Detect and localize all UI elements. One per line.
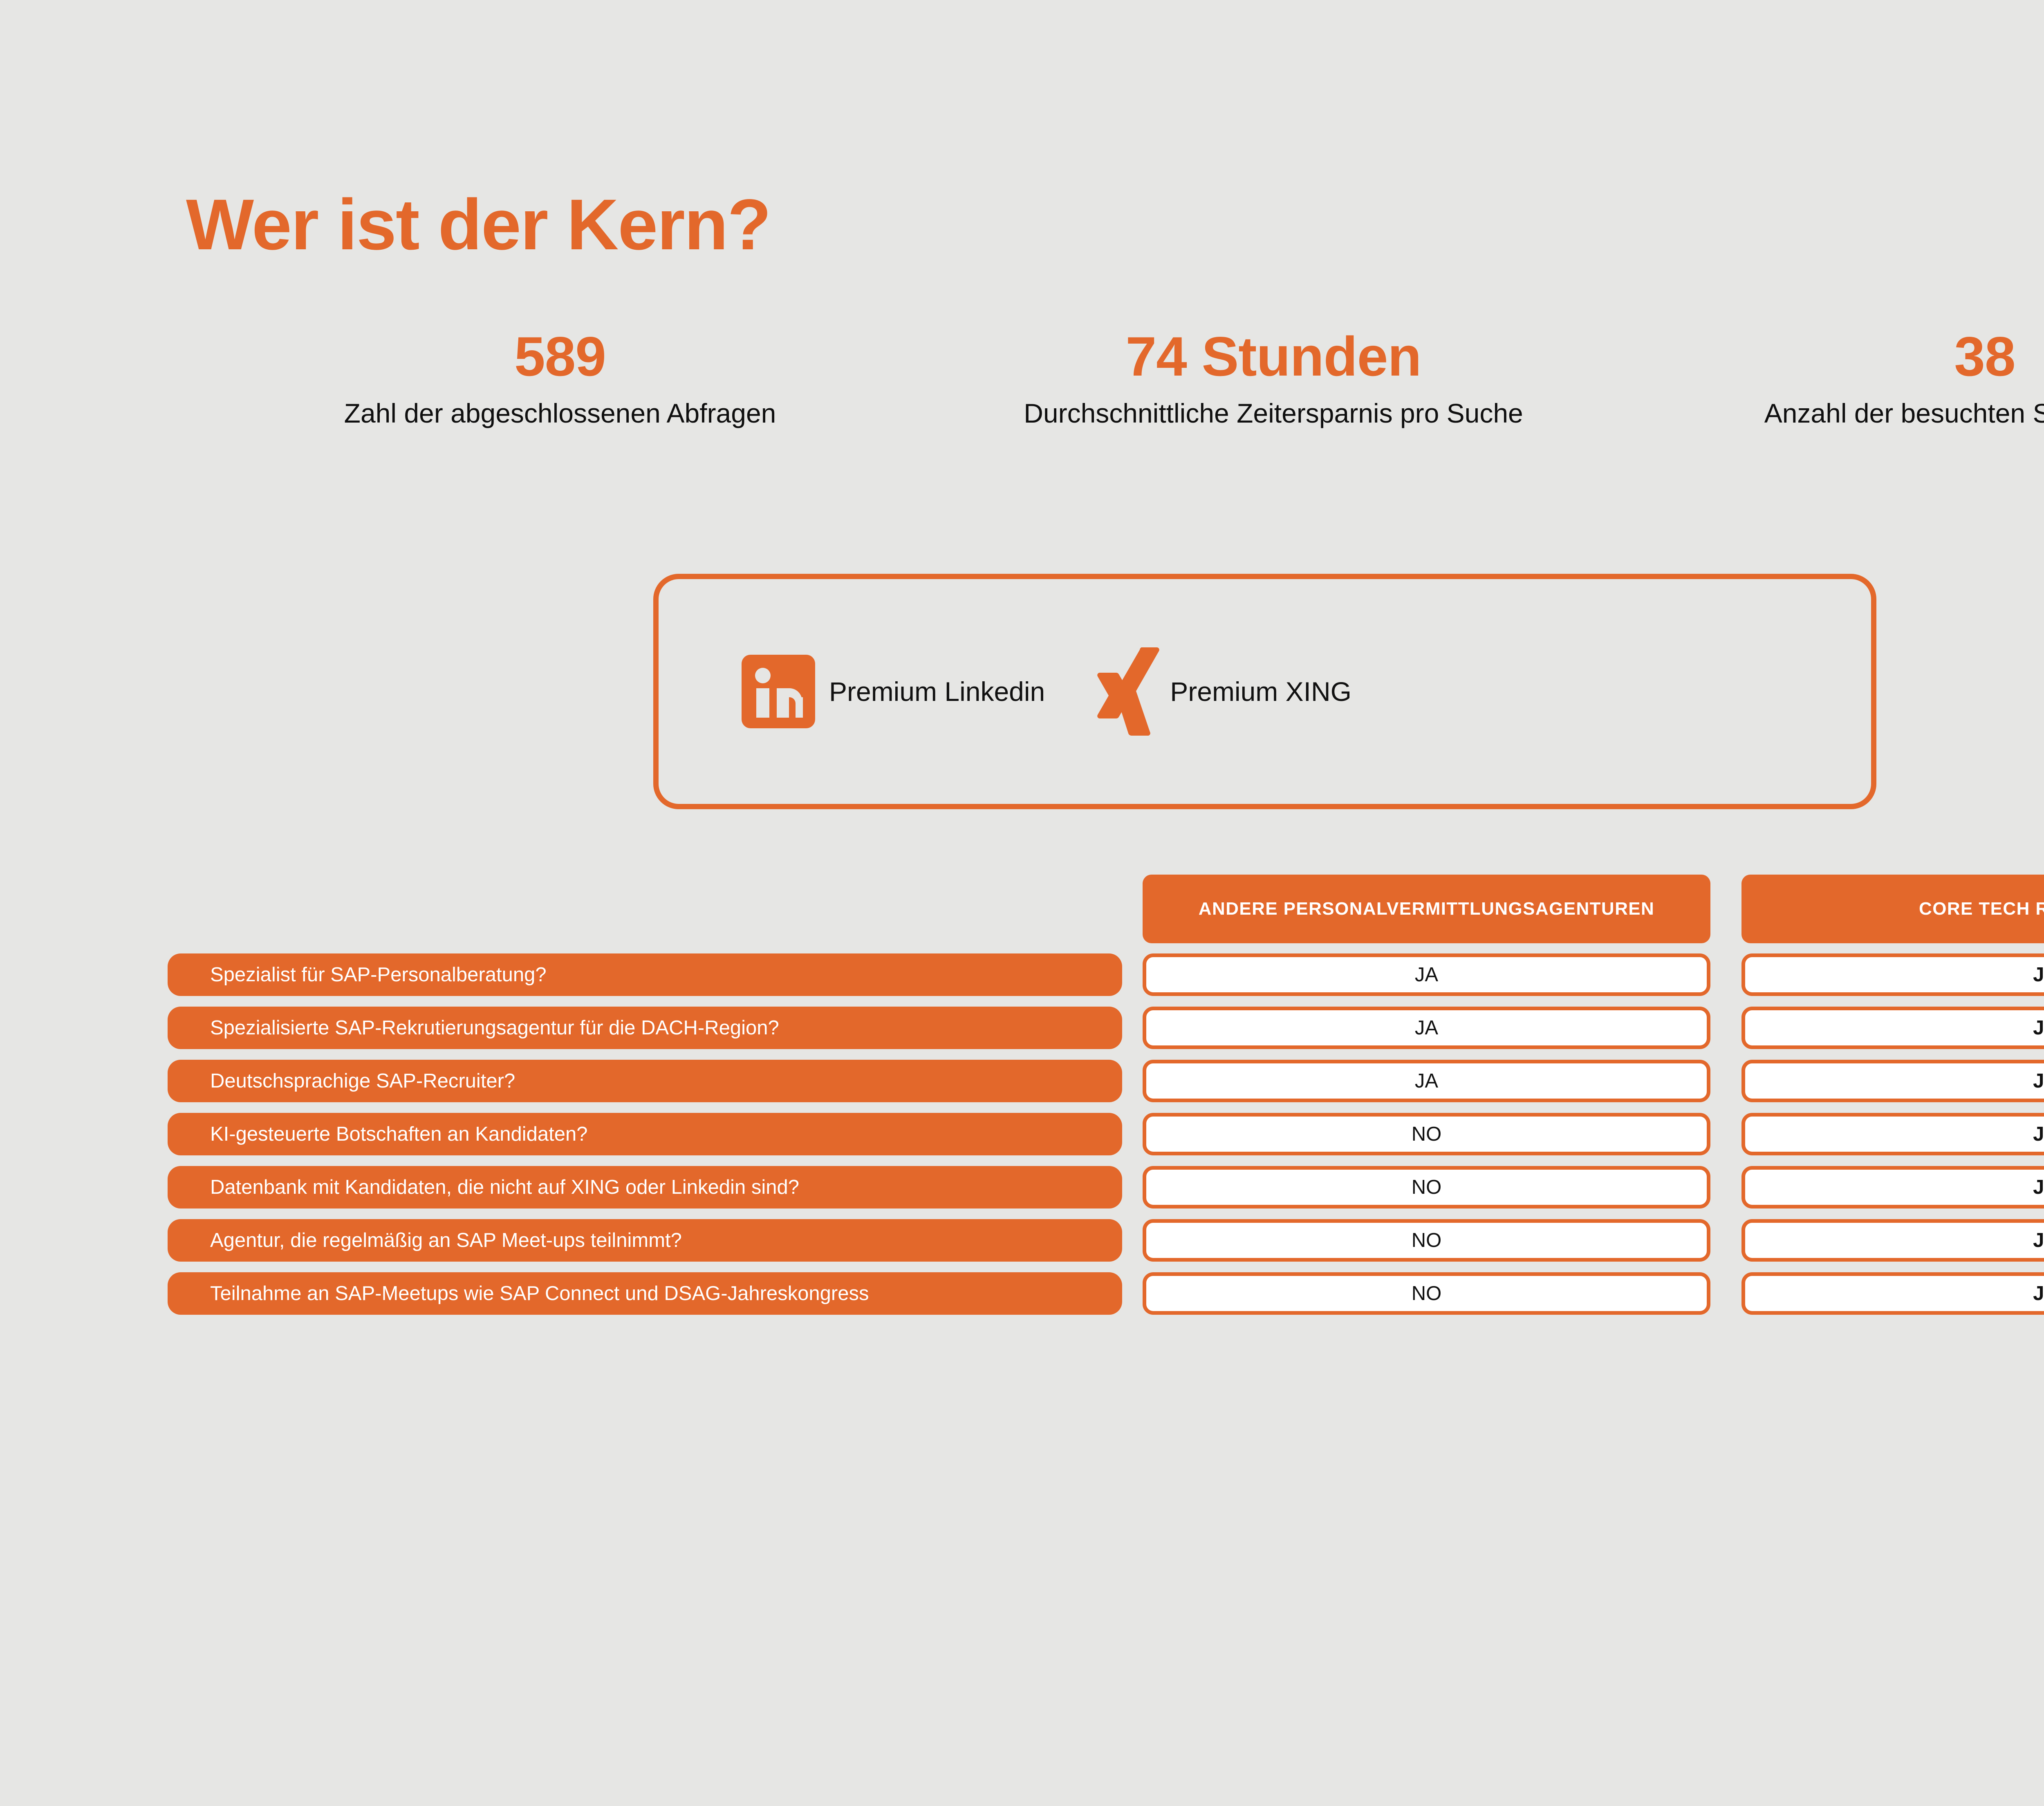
stat-label: Anzahl der besuchten SAP-Meetings — [1764, 396, 2044, 430]
answer-cell-other: JA — [1143, 1060, 1710, 1102]
table-row: Teilnahme an SAP-Meetups wie SAP Connect… — [168, 1272, 2044, 1315]
xing-icon — [1096, 647, 1159, 736]
stat-card-sap-meetings: 38 Anzahl der besuchten SAP-Meetings — [1639, 327, 2044, 430]
table-row: Deutschsprachige SAP-Recruiter? JA JA — [168, 1060, 2044, 1102]
stat-label: Zahl der abgeschlossenen Abfragen — [344, 396, 776, 430]
table-row: Agentur, die regelmäßig an SAP Meet-ups … — [168, 1219, 2044, 1262]
answer-cell-core: JA — [1741, 1166, 2044, 1208]
question-cell: KI-gesteuerte Botschaften an Kandidaten? — [168, 1113, 1122, 1155]
answer-cell-core: JA — [1741, 1007, 2044, 1049]
answer-cell-core: JA — [1741, 1219, 2044, 1262]
stat-card-completed-queries: 589 Zahl der abgeschlossenen Abfragen — [213, 327, 908, 430]
linkedin-icon — [742, 655, 815, 728]
stat-value: 589 — [514, 327, 606, 386]
premium-linkedin-item: Premium Linkedin — [742, 655, 1045, 728]
answer-cell-core: JA — [1741, 1060, 2044, 1102]
answer-cell-other: NO — [1143, 1272, 1710, 1315]
stat-value: 38 — [1954, 327, 2015, 386]
answer-cell-other: NO — [1143, 1219, 1710, 1262]
answer-cell-core: JA — [1741, 953, 2044, 996]
question-cell: Datenbank mit Kandidaten, die nicht auf … — [168, 1166, 1122, 1208]
answer-cell-core: JA — [1741, 1272, 2044, 1315]
stats-row: 589 Zahl der abgeschlossenen Abfragen 74… — [213, 327, 2044, 430]
premium-xing-label: Premium XING — [1170, 676, 1351, 707]
premium-networks-box: Premium Linkedin Premium XING — [653, 574, 1876, 809]
stat-label: Durchschnittliche Zeitersparnis pro Such… — [1024, 396, 1523, 430]
stat-value: 74 Stunden — [1126, 327, 1421, 386]
question-cell: Teilnahme an SAP-Meetups wie SAP Connect… — [168, 1272, 1122, 1315]
column-header-core-tech: CORE TECH RECRUITMENT — [1741, 875, 2044, 943]
comparison-table: ANDERE PERSONALVERMITTLUNGSAGENTUREN COR… — [168, 875, 2044, 1325]
premium-linkedin-label: Premium Linkedin — [829, 676, 1045, 707]
question-cell: Agentur, die regelmäßig an SAP Meet-ups … — [168, 1219, 1122, 1262]
answer-cell-other: JA — [1143, 1007, 1710, 1049]
page-title: Wer ist der Kern? — [186, 189, 771, 261]
answer-cell-core: JA — [1741, 1113, 2044, 1155]
answer-cell-other: NO — [1143, 1113, 1710, 1155]
answer-cell-other: NO — [1143, 1166, 1710, 1208]
answer-cell-other: JA — [1143, 953, 1710, 996]
question-cell: Deutschsprachige SAP-Recruiter? — [168, 1060, 1122, 1102]
stat-card-time-saved: 74 Stunden Durchschnittliche Zeitersparn… — [908, 327, 1639, 430]
table-row: Spezialisierte SAP-Rekrutierungsagentur … — [168, 1007, 2044, 1049]
table-header-row: ANDERE PERSONALVERMITTLUNGSAGENTUREN COR… — [168, 875, 2044, 943]
table-row: Datenbank mit Kandidaten, die nicht auf … — [168, 1166, 2044, 1208]
table-row: KI-gesteuerte Botschaften an Kandidaten?… — [168, 1113, 2044, 1155]
infographic-page: Wer ist der Kern? 589 Zahl der abgeschlo… — [0, 0, 2044, 1806]
premium-xing-item: Premium XING — [1096, 647, 1351, 736]
table-row: Spezialist für SAP-Personalberatung? JA … — [168, 953, 2044, 996]
column-header-other-agencies: ANDERE PERSONALVERMITTLUNGSAGENTUREN — [1143, 875, 1710, 943]
question-cell: Spezialisierte SAP-Rekrutierungsagentur … — [168, 1007, 1122, 1049]
header-spacer — [168, 875, 1122, 943]
question-cell: Spezialist für SAP-Personalberatung? — [168, 953, 1122, 996]
